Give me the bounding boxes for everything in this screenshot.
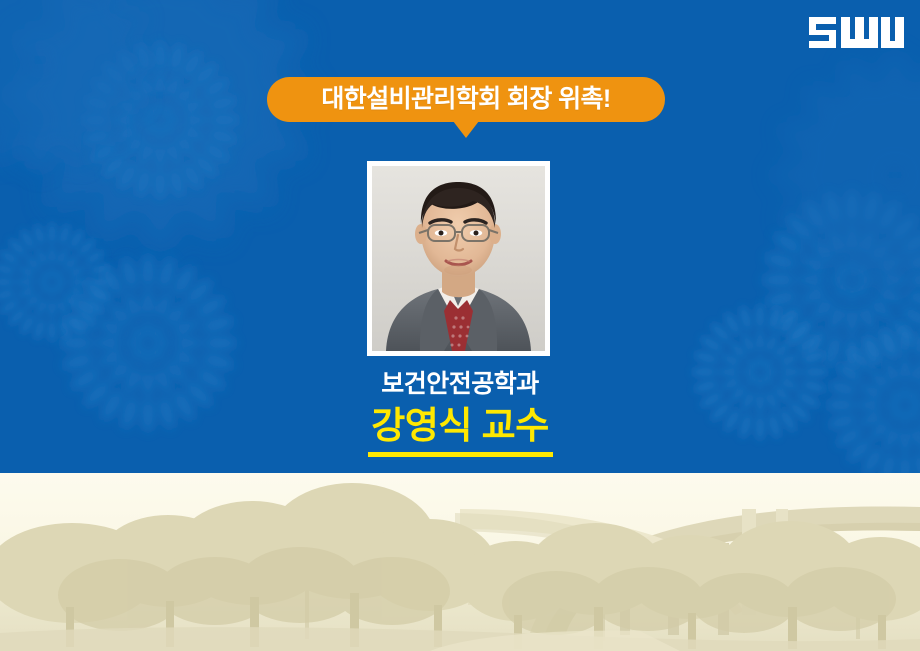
smu-logo-icon (808, 14, 904, 54)
headline-banner-tail (453, 121, 479, 138)
blue-background: 대한설비관리학회 회장 위촉! (0, 0, 920, 473)
announcement-card: 대한설비관리학회 회장 위촉! (0, 0, 920, 651)
headline-banner-text: 대한설비관리학회 회장 위촉! (321, 87, 610, 112)
portrait-photo (372, 166, 545, 351)
campus-photo-band (0, 473, 920, 651)
portrait-frame (367, 161, 550, 356)
professor-name-row: 강영식 교수 (0, 405, 920, 448)
headline-banner-body: 대한설비관리학회 회장 위촉! (267, 77, 665, 122)
department-label: 보건안전공학과 (0, 371, 920, 399)
professor-name-underline (368, 452, 553, 457)
campus-bridge-photo-icon (0, 473, 920, 651)
professor-name: 강영식 교수 (367, 405, 552, 448)
headline-banner: 대한설비관리학회 회장 위촉! (267, 77, 665, 122)
